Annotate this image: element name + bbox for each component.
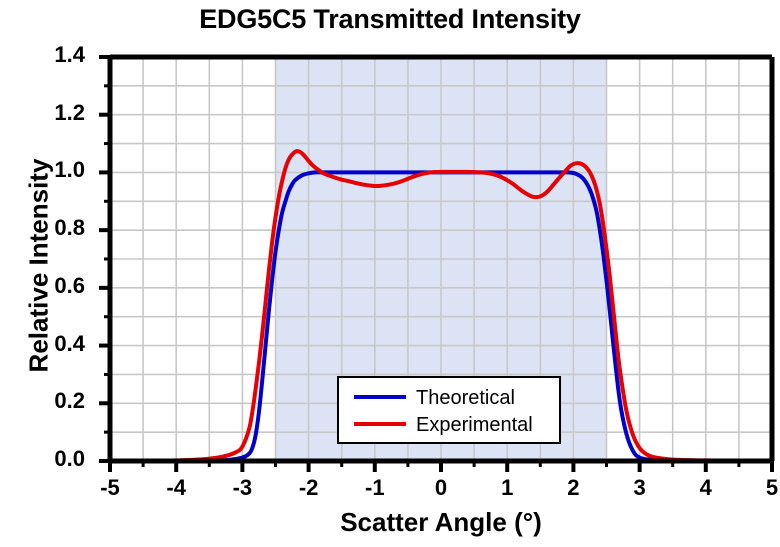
y-tick-label: 0.2 xyxy=(25,388,85,414)
x-tick-label: -1 xyxy=(355,475,395,501)
x-tick-label: 4 xyxy=(686,475,726,501)
y-tick-label: 0.8 xyxy=(25,215,85,241)
x-tick-label: 5 xyxy=(752,475,780,501)
x-tick-label: 2 xyxy=(553,475,593,501)
legend-label-theoretical: Theoretical xyxy=(416,387,515,409)
x-tick-label: -4 xyxy=(156,475,196,501)
plot-canvas: TheoreticalExperimental xyxy=(0,0,780,547)
y-tick-label: 0.4 xyxy=(25,331,85,357)
y-tick-label: 1.2 xyxy=(25,100,85,126)
y-tick-label: 1.4 xyxy=(25,42,85,68)
x-tick-label: 0 xyxy=(421,475,461,501)
x-tick-label: -3 xyxy=(222,475,262,501)
legend-label-experimental: Experimental xyxy=(416,414,533,436)
x-tick-label: 1 xyxy=(487,475,527,501)
x-tick-label: -5 xyxy=(90,475,130,501)
y-tick-label: 0.6 xyxy=(25,273,85,299)
x-tick-label: 3 xyxy=(620,475,660,501)
y-tick-label: 1.0 xyxy=(25,157,85,183)
chart-figure: EDG5C5 Transmitted Intensity Relative In… xyxy=(0,0,780,547)
x-tick-label: -2 xyxy=(289,475,329,501)
y-tick-label: 0.0 xyxy=(25,446,85,472)
